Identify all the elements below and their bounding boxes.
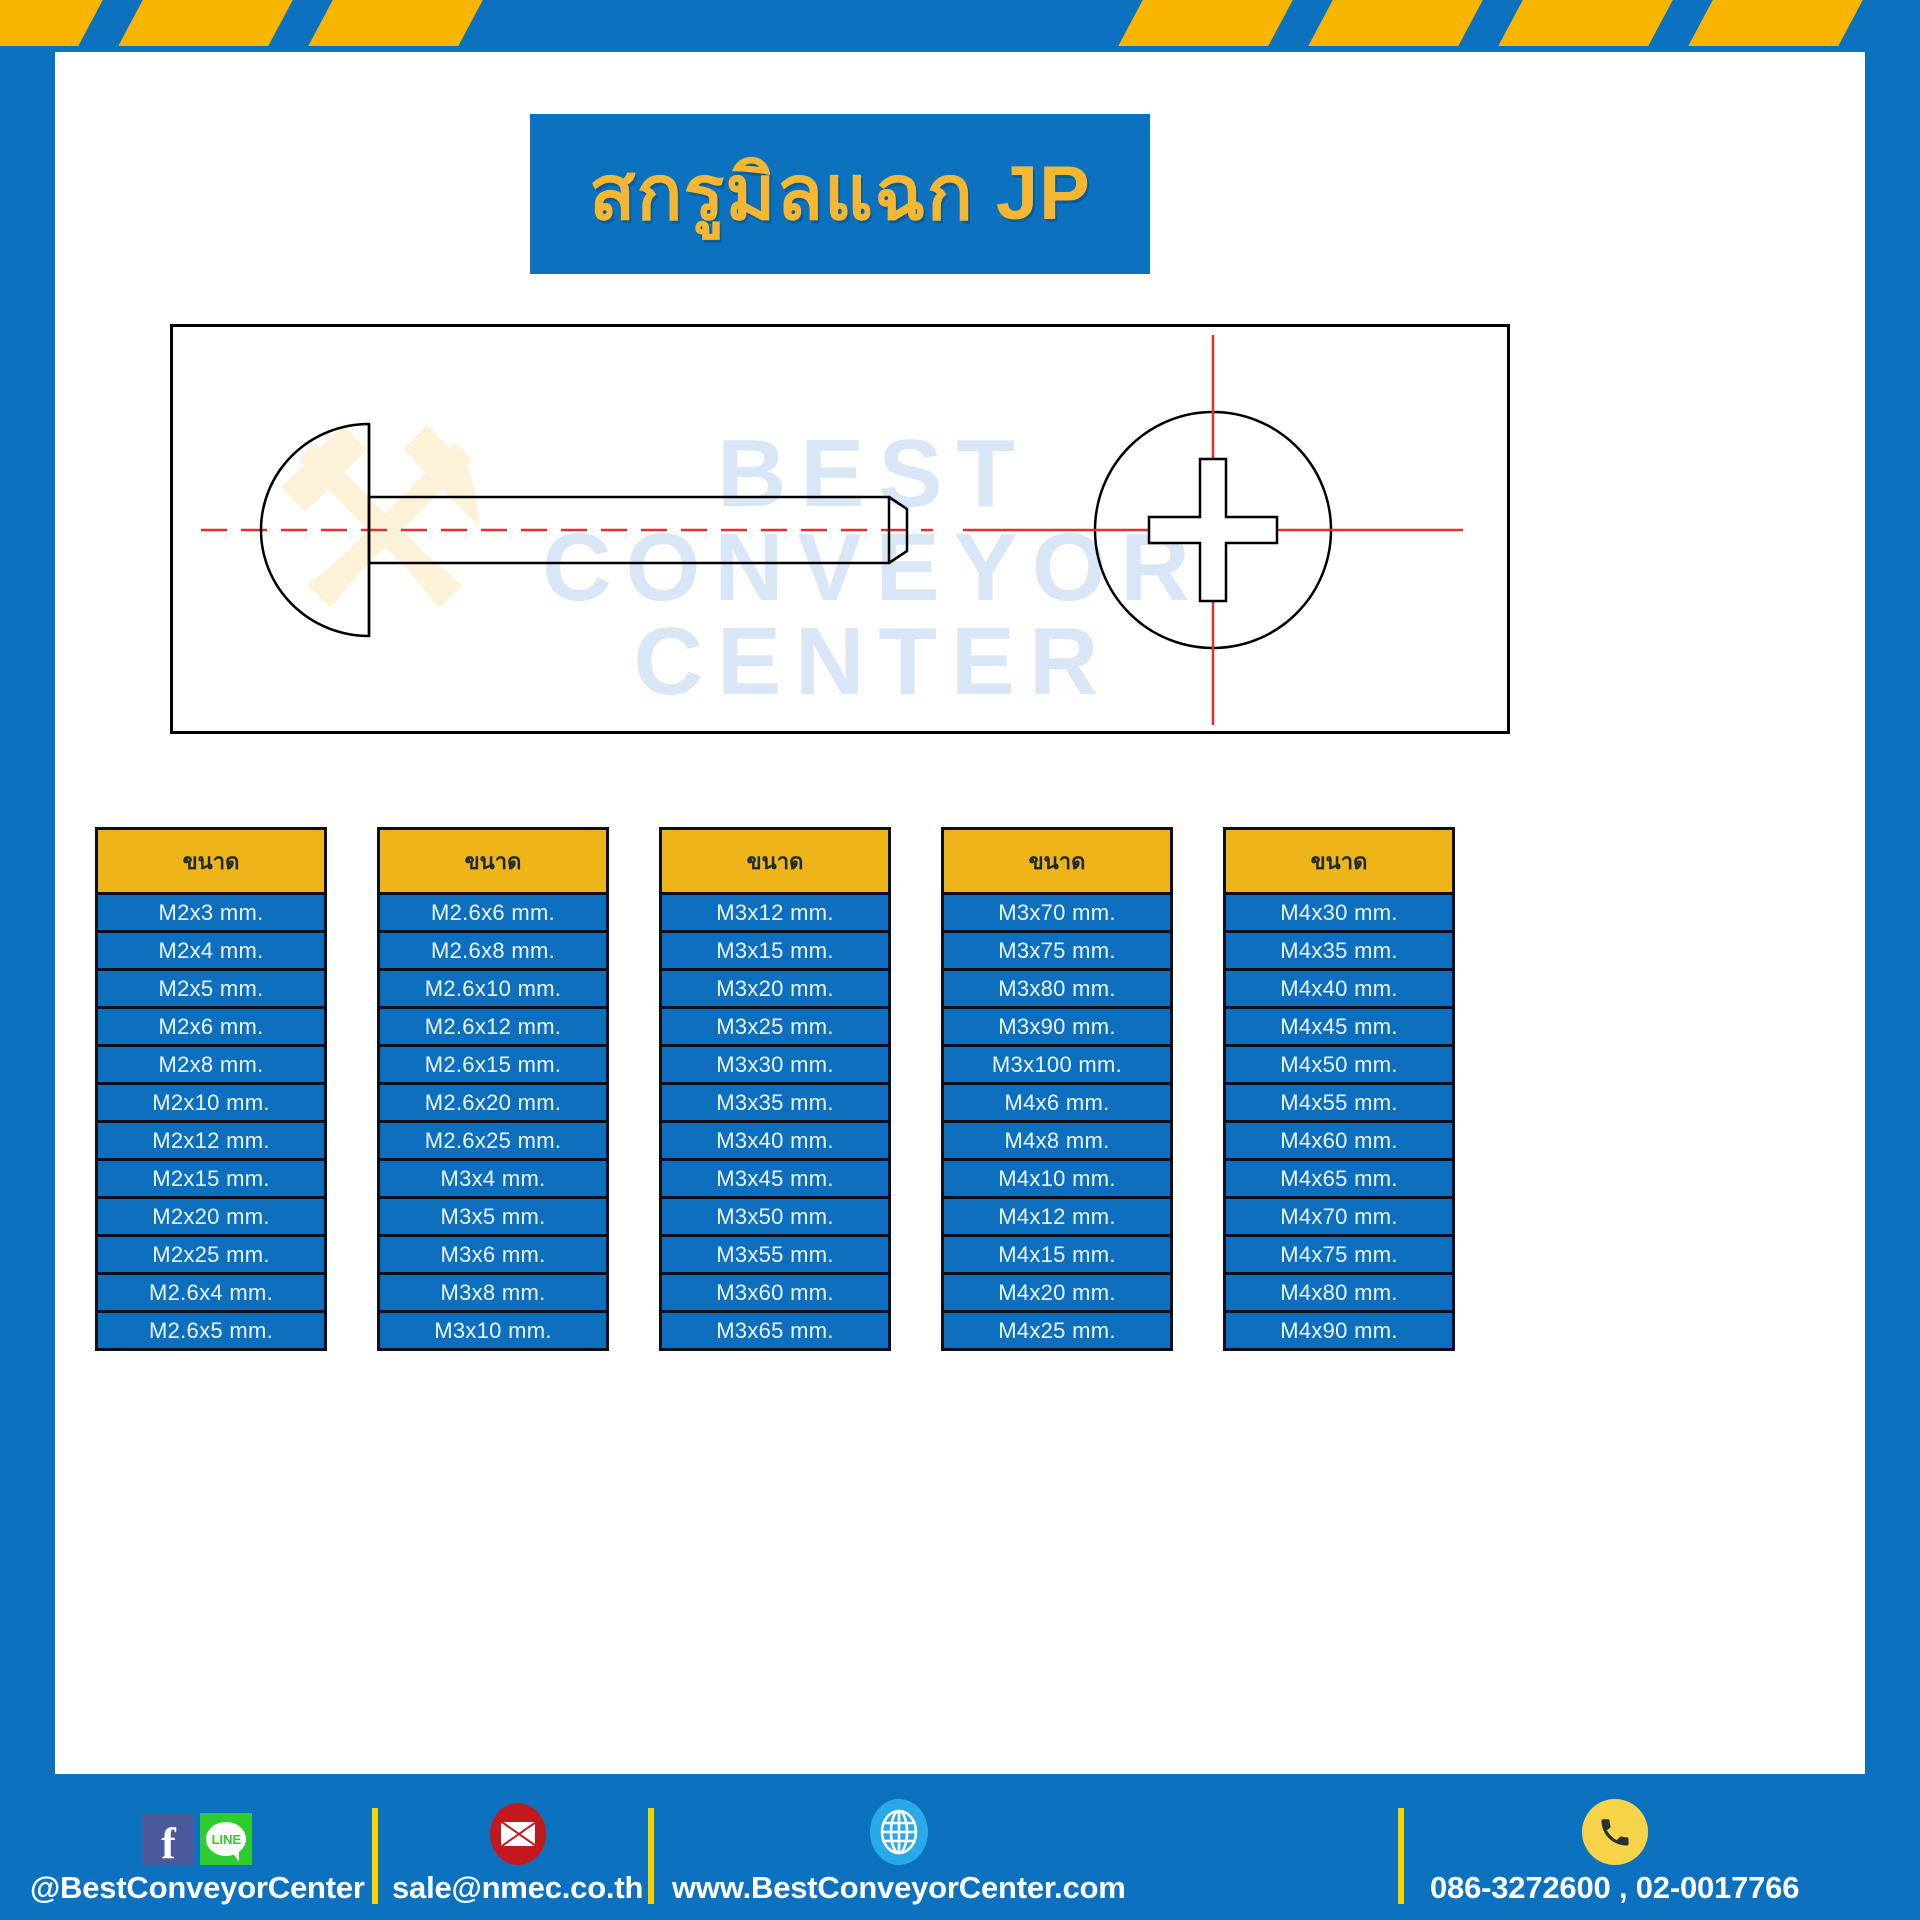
table-row[interactable]: M4x80 mm. bbox=[1223, 1275, 1455, 1313]
table-row[interactable]: M4x6 mm. bbox=[941, 1085, 1173, 1123]
chevron-stripe bbox=[1305, 0, 1485, 46]
table-row[interactable]: M3x45 mm. bbox=[659, 1161, 891, 1199]
phone-icon[interactable] bbox=[1582, 1799, 1648, 1865]
column-header: ขนาด bbox=[95, 827, 327, 895]
line-icon-label: LINE bbox=[212, 1832, 242, 1847]
table-row[interactable]: M3x5 mm. bbox=[377, 1199, 609, 1237]
email-address[interactable]: sale@nmec.co.th bbox=[392, 1870, 643, 1906]
table-row[interactable]: M4x50 mm. bbox=[1223, 1047, 1455, 1085]
column-header: ขนาด bbox=[941, 827, 1173, 895]
table-row[interactable]: M2x10 mm. bbox=[95, 1085, 327, 1123]
table-row[interactable]: M2.6x5 mm. bbox=[95, 1313, 327, 1351]
footer-divider bbox=[648, 1808, 654, 1904]
footer-website-group[interactable]: www.BestConveyorCenter.com bbox=[672, 1799, 1126, 1906]
table-row[interactable]: M4x10 mm. bbox=[941, 1161, 1173, 1199]
chevron-stripe bbox=[1115, 0, 1295, 46]
table-row[interactable]: M2.6x6 mm. bbox=[377, 895, 609, 933]
size-table-column-1: ขนาด M2x3 mm. M2x4 mm. M2x5 mm. M2x6 mm.… bbox=[95, 827, 327, 1351]
table-row[interactable]: M3x80 mm. bbox=[941, 971, 1173, 1009]
table-row[interactable]: M3x35 mm. bbox=[659, 1085, 891, 1123]
size-tables: ขนาด M2x3 mm. M2x4 mm. M2x5 mm. M2x6 mm.… bbox=[95, 827, 1825, 1351]
tip-edge-bottom bbox=[889, 551, 907, 563]
table-row[interactable]: M3x100 mm. bbox=[941, 1047, 1173, 1085]
table-row[interactable]: M4x60 mm. bbox=[1223, 1123, 1455, 1161]
table-row[interactable]: M4x45 mm. bbox=[1223, 1009, 1455, 1047]
table-row[interactable]: M2.6x25 mm. bbox=[377, 1123, 609, 1161]
table-row[interactable]: M2x6 mm. bbox=[95, 1009, 327, 1047]
facebook-handle[interactable]: @BestConveyorCenter bbox=[30, 1870, 365, 1906]
footer-divider bbox=[372, 1808, 378, 1904]
column-header: ขนาด bbox=[659, 827, 891, 895]
chevron-stripe bbox=[1685, 0, 1865, 46]
email-icons bbox=[490, 1803, 546, 1865]
table-row[interactable]: M3x8 mm. bbox=[377, 1275, 609, 1313]
table-row[interactable]: M2.6x12 mm. bbox=[377, 1009, 609, 1047]
table-row[interactable]: M4x90 mm. bbox=[1223, 1313, 1455, 1351]
table-row[interactable]: M2.6x15 mm. bbox=[377, 1047, 609, 1085]
screw-drawing bbox=[173, 327, 1509, 733]
table-row[interactable]: M3x30 mm. bbox=[659, 1047, 891, 1085]
page-title: สกรูมิลแฉก JP bbox=[589, 156, 1091, 232]
table-row[interactable]: M2x8 mm. bbox=[95, 1047, 327, 1085]
table-row[interactable]: M4x20 mm. bbox=[941, 1275, 1173, 1313]
table-row[interactable]: M3x55 mm. bbox=[659, 1237, 891, 1275]
table-row[interactable]: M2x3 mm. bbox=[95, 895, 327, 933]
table-row[interactable]: M2x15 mm. bbox=[95, 1161, 327, 1199]
table-row[interactable]: M3x12 mm. bbox=[659, 895, 891, 933]
footer-email-group[interactable]: sale@nmec.co.th bbox=[392, 1803, 643, 1906]
contact-footer: f LINE @BestConveyorCenter sale@nmec.co.… bbox=[0, 1790, 1920, 1920]
footer-social-group[interactable]: f LINE @BestConveyorCenter bbox=[30, 1813, 365, 1906]
table-row[interactable]: M4x75 mm. bbox=[1223, 1237, 1455, 1275]
footer-divider bbox=[1398, 1808, 1404, 1904]
globe-icon[interactable] bbox=[870, 1799, 928, 1865]
table-row[interactable]: M4x70 mm. bbox=[1223, 1199, 1455, 1237]
table-row[interactable]: M3x70 mm. bbox=[941, 895, 1173, 933]
table-row[interactable]: M4x65 mm. bbox=[1223, 1161, 1455, 1199]
phillips-cross-recess bbox=[1149, 459, 1277, 601]
social-icons: f LINE bbox=[142, 1813, 252, 1865]
table-row[interactable]: M4x40 mm. bbox=[1223, 971, 1455, 1009]
table-row[interactable]: M2x4 mm. bbox=[95, 933, 327, 971]
size-table-column-3: ขนาด M3x12 mm. M3x15 mm. M3x20 mm. M3x25… bbox=[659, 827, 891, 1351]
chevron-stripe bbox=[305, 0, 485, 46]
content-canvas: สกรูมิลแฉก JP ⚒ BEST CONVEYOR CENTER bbox=[55, 52, 1865, 1774]
size-table-column-5: ขนาด M4x30 mm. M4x35 mm. M4x40 mm. M4x45… bbox=[1223, 827, 1455, 1351]
title-plate: สกรูมิลแฉก JP bbox=[530, 114, 1150, 274]
table-row[interactable]: M3x10 mm. bbox=[377, 1313, 609, 1351]
table-row[interactable]: M2x25 mm. bbox=[95, 1237, 327, 1275]
poster-root: สกรูมิลแฉก JP ⚒ BEST CONVEYOR CENTER bbox=[0, 0, 1920, 1920]
footer-phone-group[interactable]: 086-3272600 , 02-0017766 bbox=[1430, 1799, 1799, 1906]
table-row[interactable]: M3x50 mm. bbox=[659, 1199, 891, 1237]
tip-edge-top bbox=[889, 497, 907, 509]
column-header: ขนาด bbox=[377, 827, 609, 895]
website-url[interactable]: www.BestConveyorCenter.com bbox=[672, 1870, 1126, 1906]
table-row[interactable]: M3x15 mm. bbox=[659, 933, 891, 971]
phone-number[interactable]: 086-3272600 , 02-0017766 bbox=[1430, 1870, 1799, 1906]
table-row[interactable]: M3x40 mm. bbox=[659, 1123, 891, 1161]
table-row[interactable]: M4x25 mm. bbox=[941, 1313, 1173, 1351]
table-row[interactable]: M4x15 mm. bbox=[941, 1237, 1173, 1275]
envelope-icon[interactable] bbox=[490, 1803, 546, 1865]
column-header: ขนาด bbox=[1223, 827, 1455, 895]
table-row[interactable]: M2.6x10 mm. bbox=[377, 971, 609, 1009]
table-row[interactable]: M2.6x8 mm. bbox=[377, 933, 609, 971]
table-row[interactable]: M3x75 mm. bbox=[941, 933, 1173, 971]
table-row[interactable]: M3x20 mm. bbox=[659, 971, 891, 1009]
screw-head-dome bbox=[261, 424, 369, 636]
table-row[interactable]: M2.6x20 mm. bbox=[377, 1085, 609, 1123]
website-icons bbox=[870, 1799, 928, 1865]
chevron-stripe bbox=[1495, 0, 1675, 46]
table-row[interactable]: M3x90 mm. bbox=[941, 1009, 1173, 1047]
chevron-stripe bbox=[115, 0, 295, 46]
table-row[interactable]: M3x65 mm. bbox=[659, 1313, 891, 1351]
table-row[interactable]: M2x20 mm. bbox=[95, 1199, 327, 1237]
technical-drawing-frame: ⚒ BEST CONVEYOR CENTER bbox=[170, 324, 1510, 734]
table-row[interactable]: M4x55 mm. bbox=[1223, 1085, 1455, 1123]
table-row[interactable]: M4x12 mm. bbox=[941, 1199, 1173, 1237]
table-row[interactable]: M3x25 mm. bbox=[659, 1009, 891, 1047]
size-table-column-2: ขนาด M2.6x6 mm. M2.6x8 mm. M2.6x10 mm. M… bbox=[377, 827, 609, 1351]
table-row[interactable]: M4x8 mm. bbox=[941, 1123, 1173, 1161]
table-row[interactable]: M4x30 mm. bbox=[1223, 895, 1455, 933]
phone-icons bbox=[1582, 1799, 1648, 1865]
size-table-column-4: ขนาด M3x70 mm. M3x75 mm. M3x80 mm. M3x90… bbox=[941, 827, 1173, 1351]
top-chevron-ribbon bbox=[0, 0, 1920, 46]
line-icon[interactable]: LINE bbox=[200, 1813, 252, 1865]
chevron-stripe bbox=[0, 0, 105, 46]
table-row[interactable]: M2x12 mm. bbox=[95, 1123, 327, 1161]
globe-glyph bbox=[879, 1809, 919, 1855]
table-row[interactable]: M3x6 mm. bbox=[377, 1237, 609, 1275]
table-row[interactable]: M3x4 mm. bbox=[377, 1161, 609, 1199]
table-row[interactable]: M2x5 mm. bbox=[95, 971, 327, 1009]
table-row[interactable]: M2.6x4 mm. bbox=[95, 1275, 327, 1313]
phone-glyph bbox=[1597, 1814, 1633, 1850]
facebook-icon[interactable]: f bbox=[142, 1813, 194, 1865]
table-row[interactable]: M3x60 mm. bbox=[659, 1275, 891, 1313]
table-row[interactable]: M4x35 mm. bbox=[1223, 933, 1455, 971]
